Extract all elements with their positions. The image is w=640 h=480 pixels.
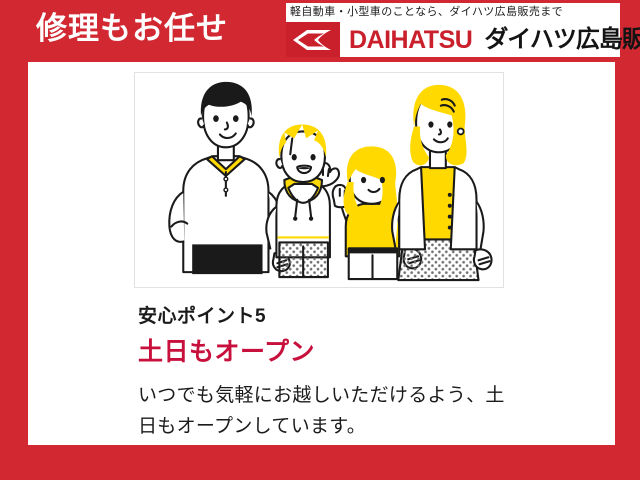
content-card: .ln { fill:none; stroke:#1a1a1a; stroke-…	[28, 62, 615, 445]
brand-lockup: 軽自動車・小型車のことなら、ダイハツ広島販売まで DAIHATSU ダイハツ広島…	[286, 3, 620, 57]
point-body: いつでも気軽にお越しいただけるよう、土日もオープンしています。	[138, 380, 514, 442]
brand-tagline: 軽自動車・小型車のことなら、ダイハツ広島販売まで	[290, 5, 618, 20]
family-of-four-illustration: .ln { fill:none; stroke:#1a1a1a; stroke-…	[135, 73, 503, 287]
dealer-name: ダイハツ広島販売	[484, 27, 640, 53]
daihatsu-wordmark: DAIHATSU	[349, 27, 472, 53]
illustration-frame: .ln { fill:none; stroke:#1a1a1a; stroke-…	[134, 72, 504, 288]
point-title: 土日もオープン	[138, 336, 558, 368]
brand-logo-row: DAIHATSU ダイハツ広島販売	[286, 22, 620, 57]
point-label: 安心ポイント5	[138, 304, 558, 330]
advertisement-banner: 修理もお任せ 軽自動車・小型車のことなら、ダイハツ広島販売まで DAIHATSU…	[0, 0, 640, 480]
mother-hand	[474, 249, 492, 269]
daihatsu-d-emblem-icon	[286, 22, 340, 57]
page-headline: 修理もお任せ	[36, 9, 228, 49]
header-band: 修理もお任せ 軽自動車・小型車のことなら、ダイハツ広島販売まで DAIHATSU…	[0, 0, 640, 62]
point-text-block: 安心ポイント5 土日もオープン いつでも気軽にお越しいただけるよう、土日もオープ…	[138, 304, 558, 442]
